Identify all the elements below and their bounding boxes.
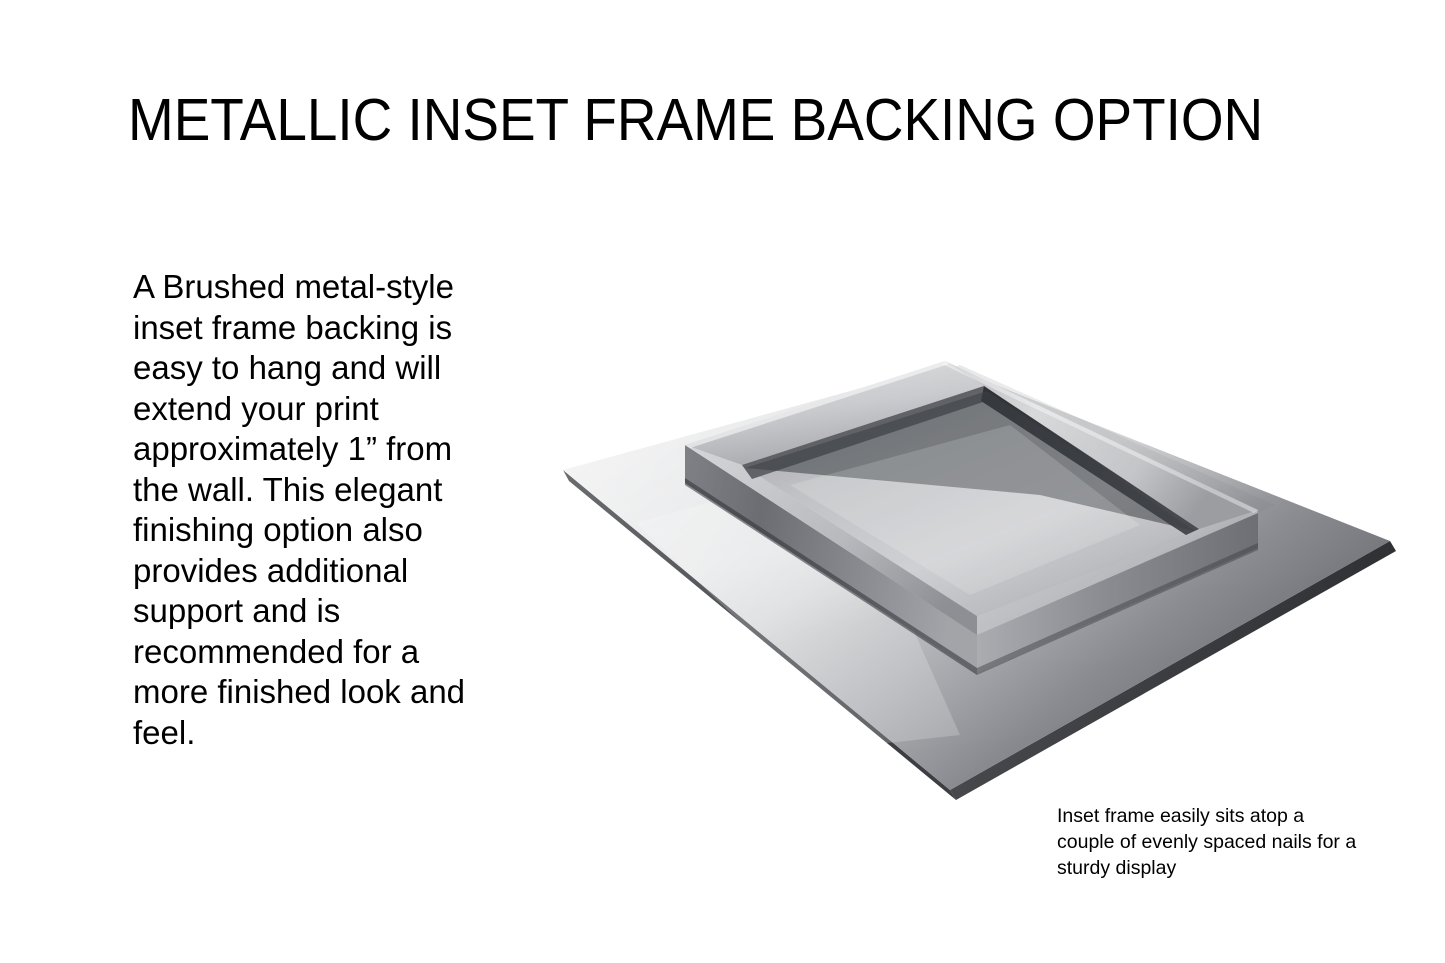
page-title: METALLIC INSET FRAME BACKING OPTION (128, 88, 1263, 152)
body-paragraph: A Brushed metal-style inset frame backin… (133, 267, 485, 753)
product-photo (540, 345, 1420, 815)
inset-frame-illustration (540, 345, 1420, 815)
slide-canvas: METALLIC INSET FRAME BACKING OPTION A Br… (0, 0, 1445, 963)
body-text-block: A Brushed metal-style inset frame backin… (133, 267, 485, 753)
